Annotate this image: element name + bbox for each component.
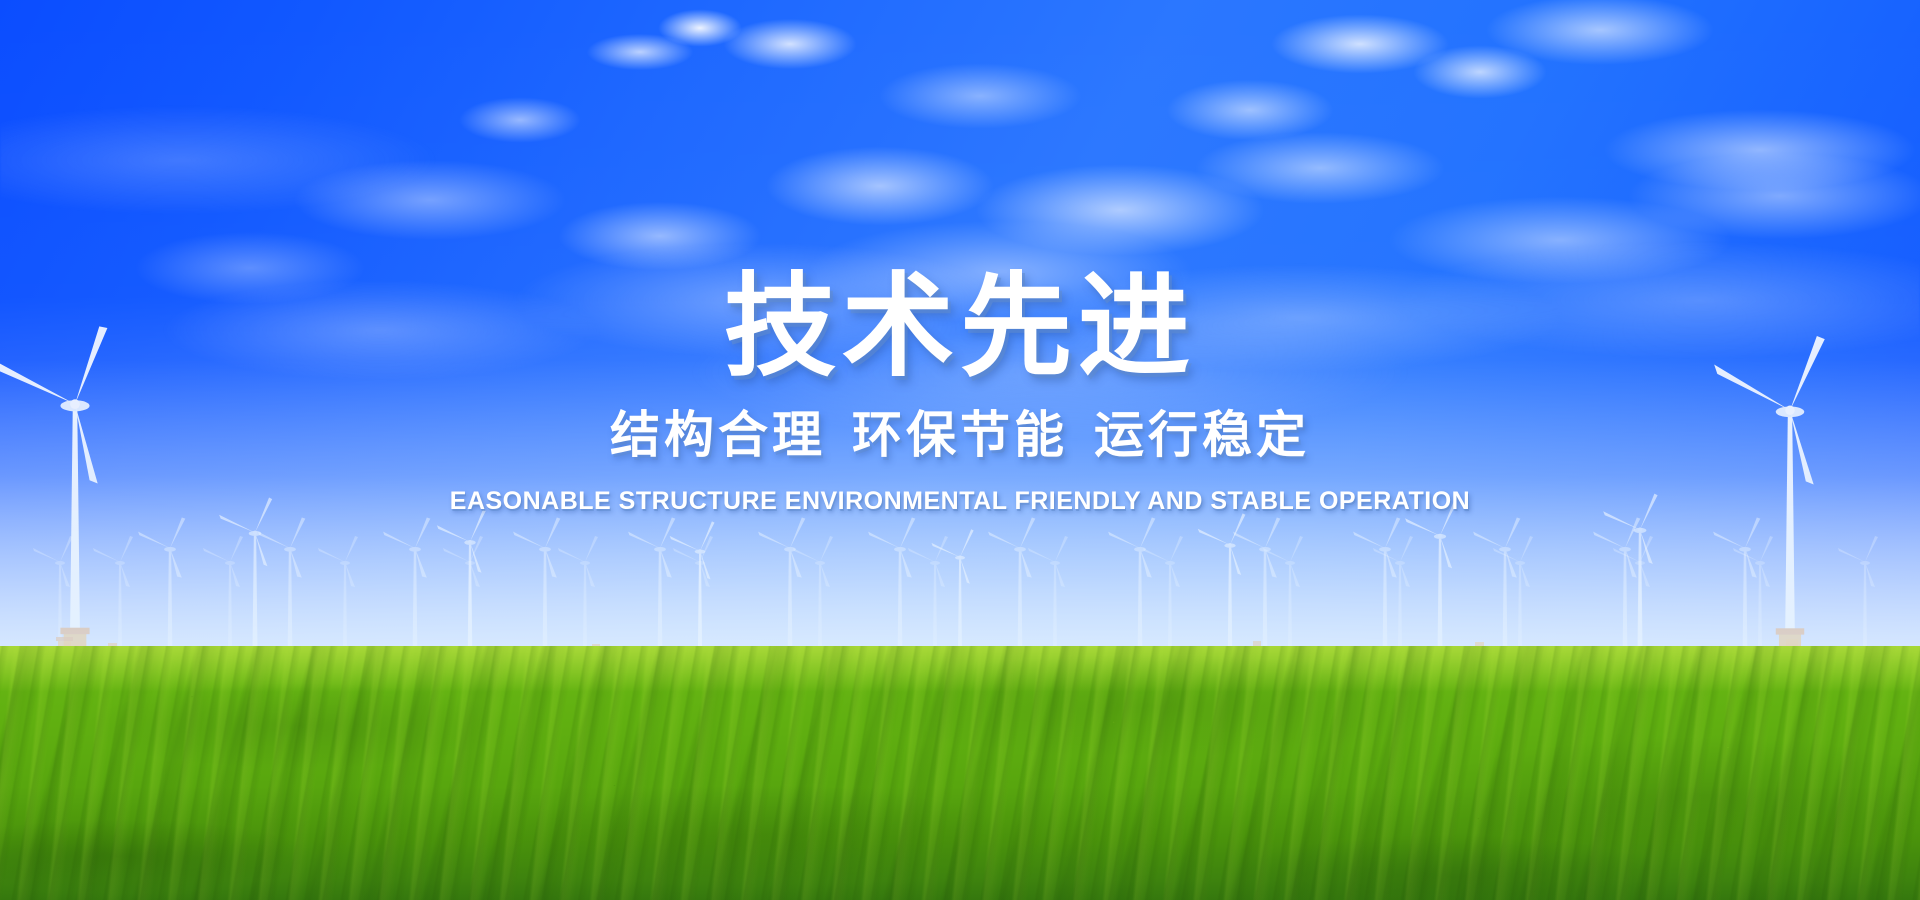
wind-farm-hero-banner: 技术先进 结构合理环保节能运行稳定 EASONABLE STRUCTURE EN… [0,0,1920,900]
wind-turbine-farm [0,0,1920,660]
grass-vignette [0,646,1920,900]
grass-field [0,646,1920,900]
